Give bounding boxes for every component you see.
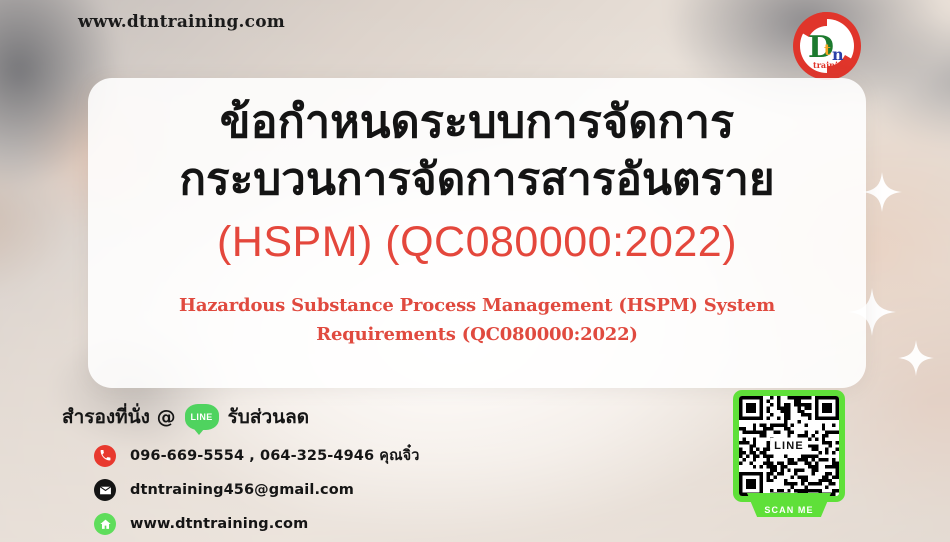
email-row[interactable]: dtntraining456@gmail.com (62, 479, 532, 501)
brand-logo: D t n training (791, 10, 863, 82)
phone-icon (94, 445, 116, 467)
scan-me-label: SCAN ME (764, 505, 813, 515)
qr-surface: LINE (739, 396, 839, 496)
top-website-url: www.dtntraining.com (78, 12, 285, 32)
reserve-seat-prefix: สำรองที่นั่ง @ (62, 402, 176, 432)
website-url-text: www.dtntraining.com (130, 516, 308, 532)
phone-row[interactable]: 096-669-5554 , 064-325-4946 คุณจิ๋ว (62, 444, 532, 467)
dtn-training-logo-icon: D t n training (791, 10, 863, 82)
phone-number-text: 096-669-5554 , 064-325-4946 คุณจิ๋ว (130, 444, 420, 467)
svg-text:training: training (813, 60, 850, 70)
thai-title-line-1: ข้อกำหนดระบบการจัดการ (220, 92, 734, 151)
standard-code-line: (HSPM) (QC080000:2022) (217, 217, 737, 269)
english-subtitle-line-2: Requirements (QC080000:2022) (127, 320, 827, 349)
promo-banner: www.dtntraining.com D t n training ข้อกำ… (0, 0, 950, 542)
reserve-seat-suffix: รับส่วนลด (228, 402, 310, 432)
english-subtitle: Hazardous Substance Process Management (… (127, 291, 827, 349)
qr-center-label: LINE (770, 438, 808, 454)
envelope-icon (94, 479, 116, 501)
line-qr-code[interactable]: LINE SCAN ME (733, 390, 849, 518)
home-icon (94, 513, 116, 535)
email-address-text: dtntraining456@gmail.com (130, 482, 354, 498)
contact-block: สำรองที่นั่ง @ LINE รับส่วนลด 096-669-55… (62, 402, 532, 535)
line-badge-label: LINE (191, 412, 213, 422)
reserve-seat-row: สำรองที่นั่ง @ LINE รับส่วนลด (62, 402, 532, 432)
headline-card: ข้อกำหนดระบบการจัดการ กระบวนการจัดการสาร… (88, 78, 866, 388)
scan-me-banner: SCAN ME (747, 493, 831, 517)
english-subtitle-line-1: Hazardous Substance Process Management (… (179, 295, 775, 316)
qr-frame: LINE (733, 390, 845, 502)
line-app-icon[interactable]: LINE (185, 404, 219, 430)
website-row[interactable]: www.dtntraining.com (62, 513, 532, 535)
svg-text:t: t (824, 41, 831, 59)
thai-title-line-2: กระบวนการจัดการสารอันตราย (179, 151, 774, 209)
